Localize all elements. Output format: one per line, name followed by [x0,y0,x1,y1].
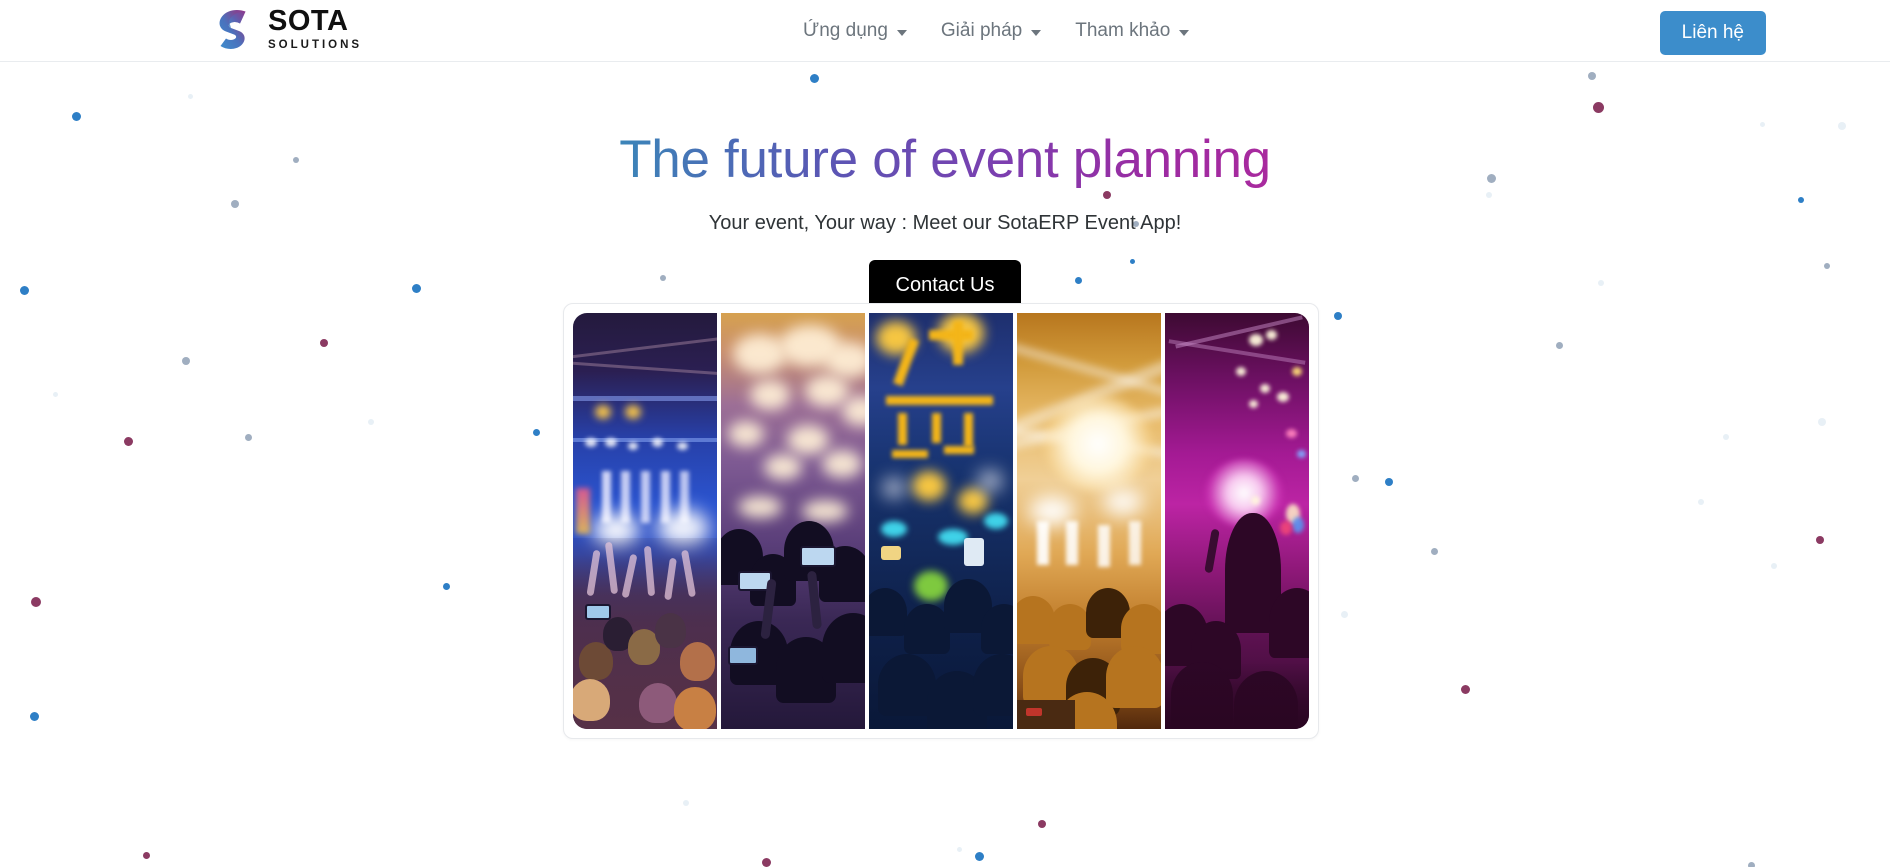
background-dot [53,392,58,397]
hero-content: The future of event planning Your event,… [0,62,1890,311]
page-title: The future of event planning [619,130,1271,191]
background-dot [1385,478,1393,486]
nav-label: Giải pháp [941,20,1022,42]
hero-section: The future of event planning Your event,… [0,62,1890,867]
nav-item-giai-phap[interactable]: Giải pháp [924,12,1058,50]
background-dot [124,437,133,446]
background-dot [1334,312,1342,320]
nav-item-tham-khao[interactable]: Tham khảo [1058,12,1206,50]
background-dot [245,434,252,441]
hero-subtitle: Your event, Your way : Meet our SotaERP … [0,209,1890,237]
sota-swirl-logo-icon [215,7,257,51]
background-dot [143,852,150,859]
chevron-down-icon [897,30,907,36]
chevron-down-icon [1179,30,1189,36]
background-dot [1341,611,1348,618]
background-dot [1556,342,1563,349]
site-header: SOTA SOLUTIONS Ứng dụng Giải pháp Tham k… [0,0,1890,62]
background-dot [1723,434,1729,440]
background-dot [957,847,962,852]
collage-image-gold-rig-blue-crowd [869,313,1013,729]
background-dot [30,712,39,721]
brand-subtitle: SOLUTIONS [268,40,362,52]
main-navigation: Ứng dụng Giải pháp Tham khảo [786,0,1206,62]
background-dot [1352,475,1359,482]
background-dot [1748,862,1755,867]
background-dot [1771,563,1777,569]
background-dot [182,357,190,365]
brand-name: SOTA [268,7,362,36]
nav-label: Tham khảo [1075,20,1170,42]
nav-item-ung-dung[interactable]: Ứng dụng [786,12,924,50]
background-dot [762,858,771,867]
collage-image-blue-stage-crowd [573,313,717,729]
brand-logo-link[interactable]: SOTA SOLUTIONS [215,7,362,52]
header-contact-button[interactable]: Liên hệ [1660,11,1766,55]
background-dot [1461,685,1470,694]
collage-image-purple-gold-crowd-phones [721,313,865,729]
background-dot [443,583,450,590]
background-dot [975,852,984,861]
background-dot [1698,499,1704,505]
image-collage [573,313,1309,729]
background-dot [1038,820,1046,828]
event-image-collage-card [563,303,1319,739]
background-dot [683,800,689,806]
background-dot [1818,418,1826,426]
nav-label: Ứng dụng [803,20,888,42]
background-dot [533,429,540,436]
chevron-down-icon [1031,30,1041,36]
background-dot [1431,548,1438,555]
background-dot [1816,536,1824,544]
background-dot [31,597,41,607]
background-dot [320,339,328,347]
background-dot [368,419,374,425]
collage-image-magenta-silhouette-crowd [1165,313,1309,729]
collage-image-warm-light-burst-crowd [1017,313,1161,729]
